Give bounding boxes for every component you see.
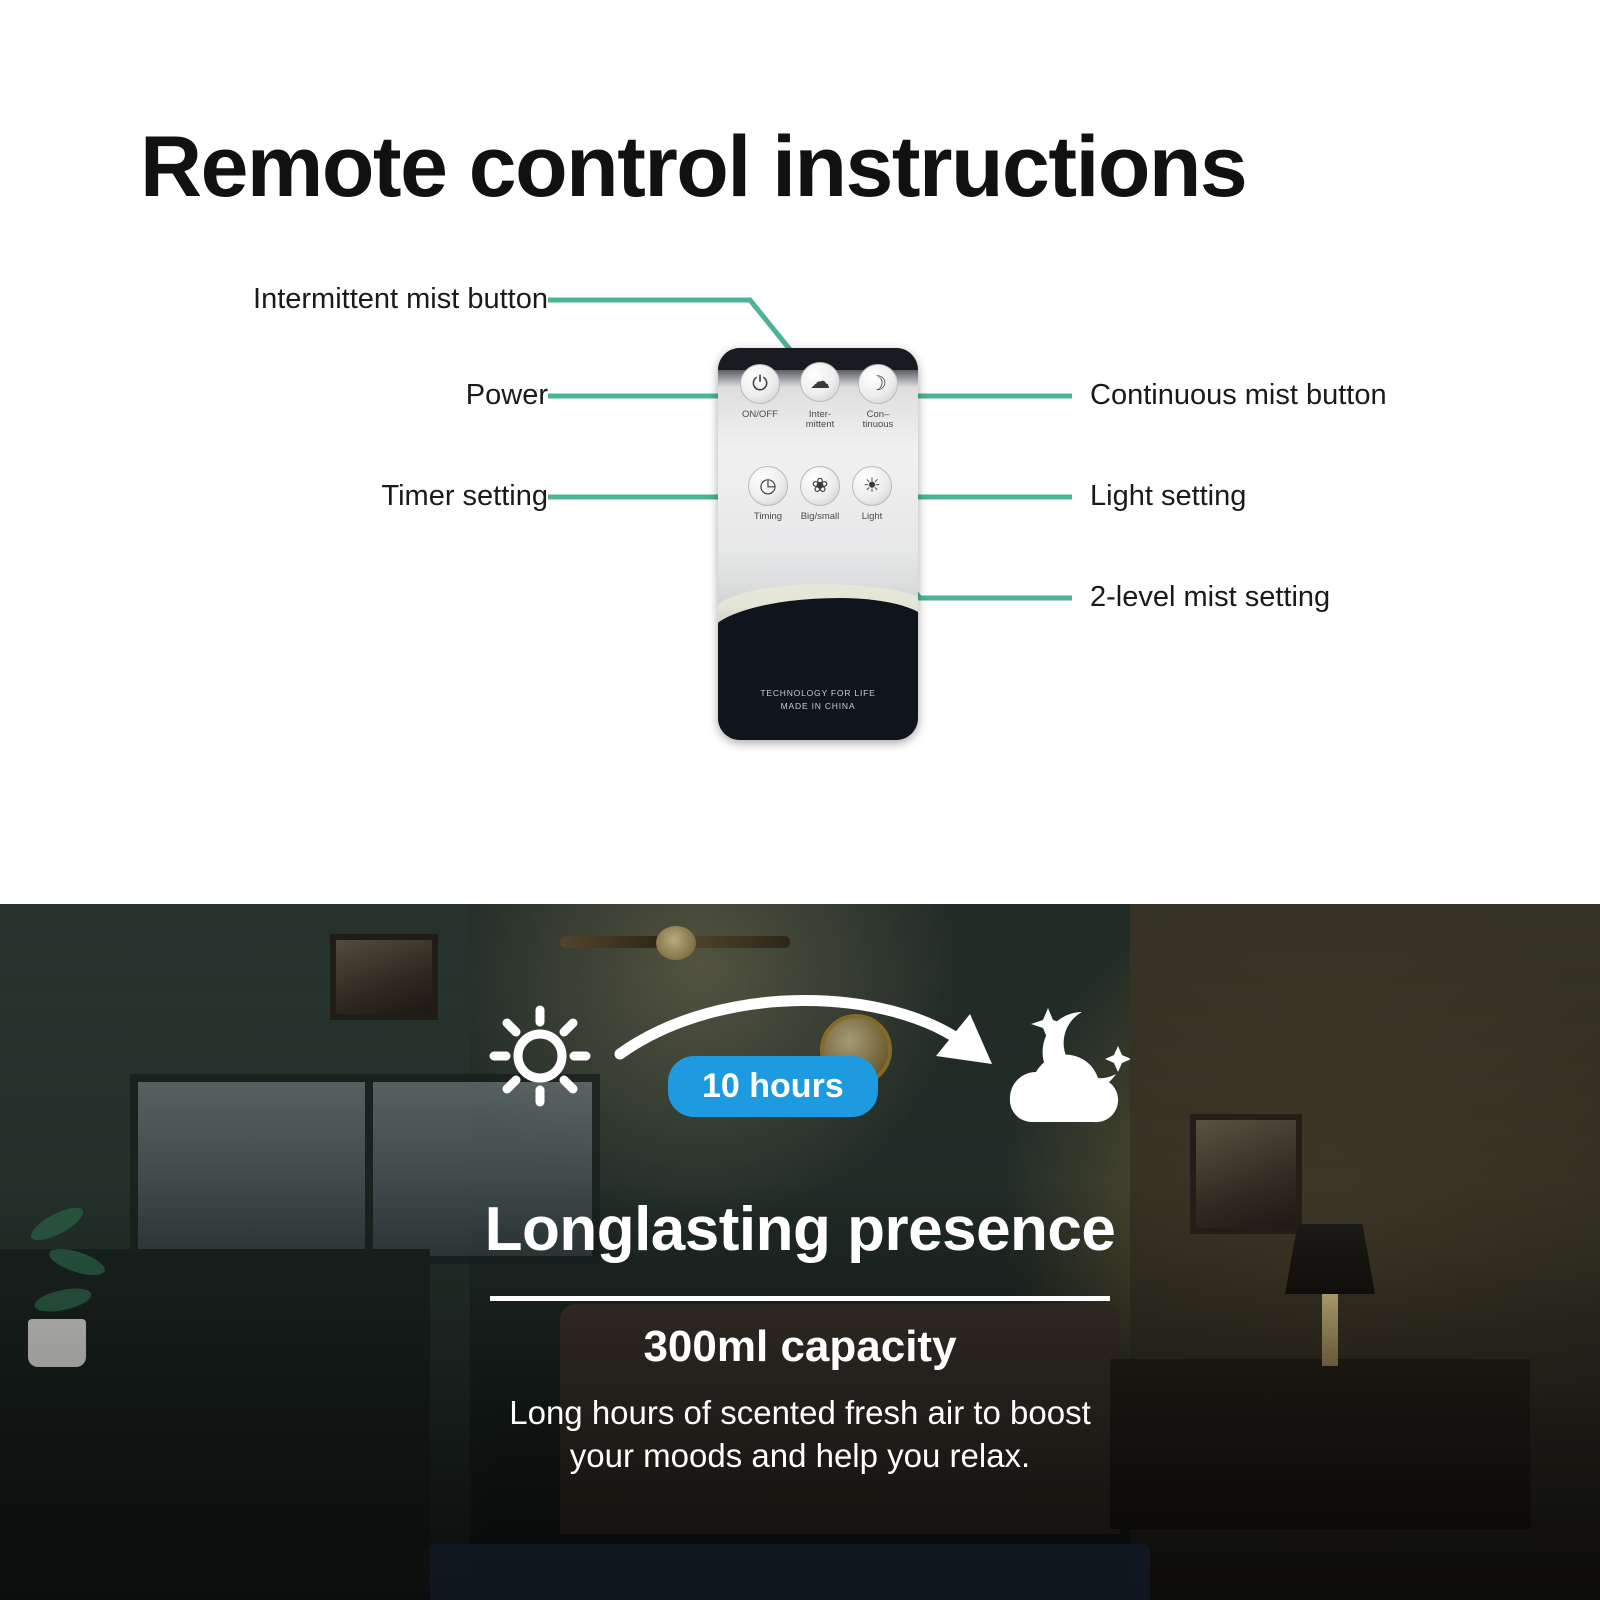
- timer-button[interactable]: ◷: [748, 466, 788, 506]
- callout-continuous-mist: Continuous mist button: [1090, 379, 1387, 412]
- power-button[interactable]: ⏻: [740, 364, 780, 404]
- callout-timer-setting: Timer setting: [130, 480, 548, 513]
- hero-body-line2: your moods and help you relax.: [0, 1435, 1600, 1478]
- sun-icon: [494, 1010, 586, 1102]
- callout-light-setting: Light setting: [1090, 480, 1246, 513]
- remote-wave-dark: [718, 598, 918, 740]
- continuous-mist-button[interactable]: ☽: [858, 364, 898, 404]
- light-button-caption: Light: [842, 512, 902, 522]
- remote-footer: TECHNOLOGY FOR LIFE MADE IN CHINA: [718, 687, 918, 712]
- mist-level-button-caption: Big/small: [790, 512, 850, 522]
- intermittent-button-caption: Inter- mittent: [790, 410, 850, 431]
- curved-arrow-icon: [620, 1000, 992, 1064]
- remote-control-device: ⏻ ☁ ☽ ON/OFF Inter- mittent Con– tinuous…: [718, 348, 918, 740]
- hero-body: Long hours of scented fresh air to boost…: [0, 1392, 1600, 1478]
- light-button[interactable]: ☀: [852, 466, 892, 506]
- product-infographic: Remote control instructions Intermittent…: [0, 0, 1600, 1600]
- callout-intermittent-mist: Intermittent mist button: [130, 283, 548, 316]
- duration-badge: 10 hours: [668, 1056, 878, 1117]
- power-button-caption: ON/OFF: [730, 410, 790, 420]
- timer-button-caption: Timing: [738, 512, 798, 522]
- hero-content: 10 hours Longlasting presence 300ml capa…: [0, 904, 1600, 1600]
- mist-level-button[interactable]: ❀: [800, 466, 840, 506]
- hero-subtitle: 300ml capacity: [0, 1322, 1600, 1372]
- remote-instructions-panel: Remote control instructions Intermittent…: [0, 0, 1600, 904]
- callout-power: Power: [130, 379, 548, 412]
- power-icon: ⏻: [752, 374, 768, 394]
- moon-cloud-icon: [1010, 1008, 1130, 1122]
- sun-icon: ☀: [863, 476, 881, 496]
- hero-divider: [490, 1296, 1110, 1301]
- intermittent-mist-icon: ☁: [810, 372, 830, 392]
- remote-footer-line2: MADE IN CHINA: [718, 700, 918, 712]
- hero-body-line1: Long hours of scented fresh air to boost: [0, 1392, 1600, 1435]
- remote-footer-line1: TECHNOLOGY FOR LIFE: [718, 687, 918, 699]
- longlasting-presence-panel: 10 hours Longlasting presence 300ml capa…: [0, 904, 1600, 1600]
- intermittent-mist-button[interactable]: ☁: [800, 362, 840, 402]
- continuous-button-caption: Con– tinuous: [848, 410, 908, 431]
- continuous-mist-icon: ☽: [869, 374, 887, 394]
- mist-level-icon: ❀: [812, 476, 829, 496]
- clock-icon: ◷: [759, 476, 776, 496]
- hero-title: Longlasting presence: [0, 1194, 1600, 1265]
- callout-2-level-mist: 2-level mist setting: [1090, 581, 1330, 614]
